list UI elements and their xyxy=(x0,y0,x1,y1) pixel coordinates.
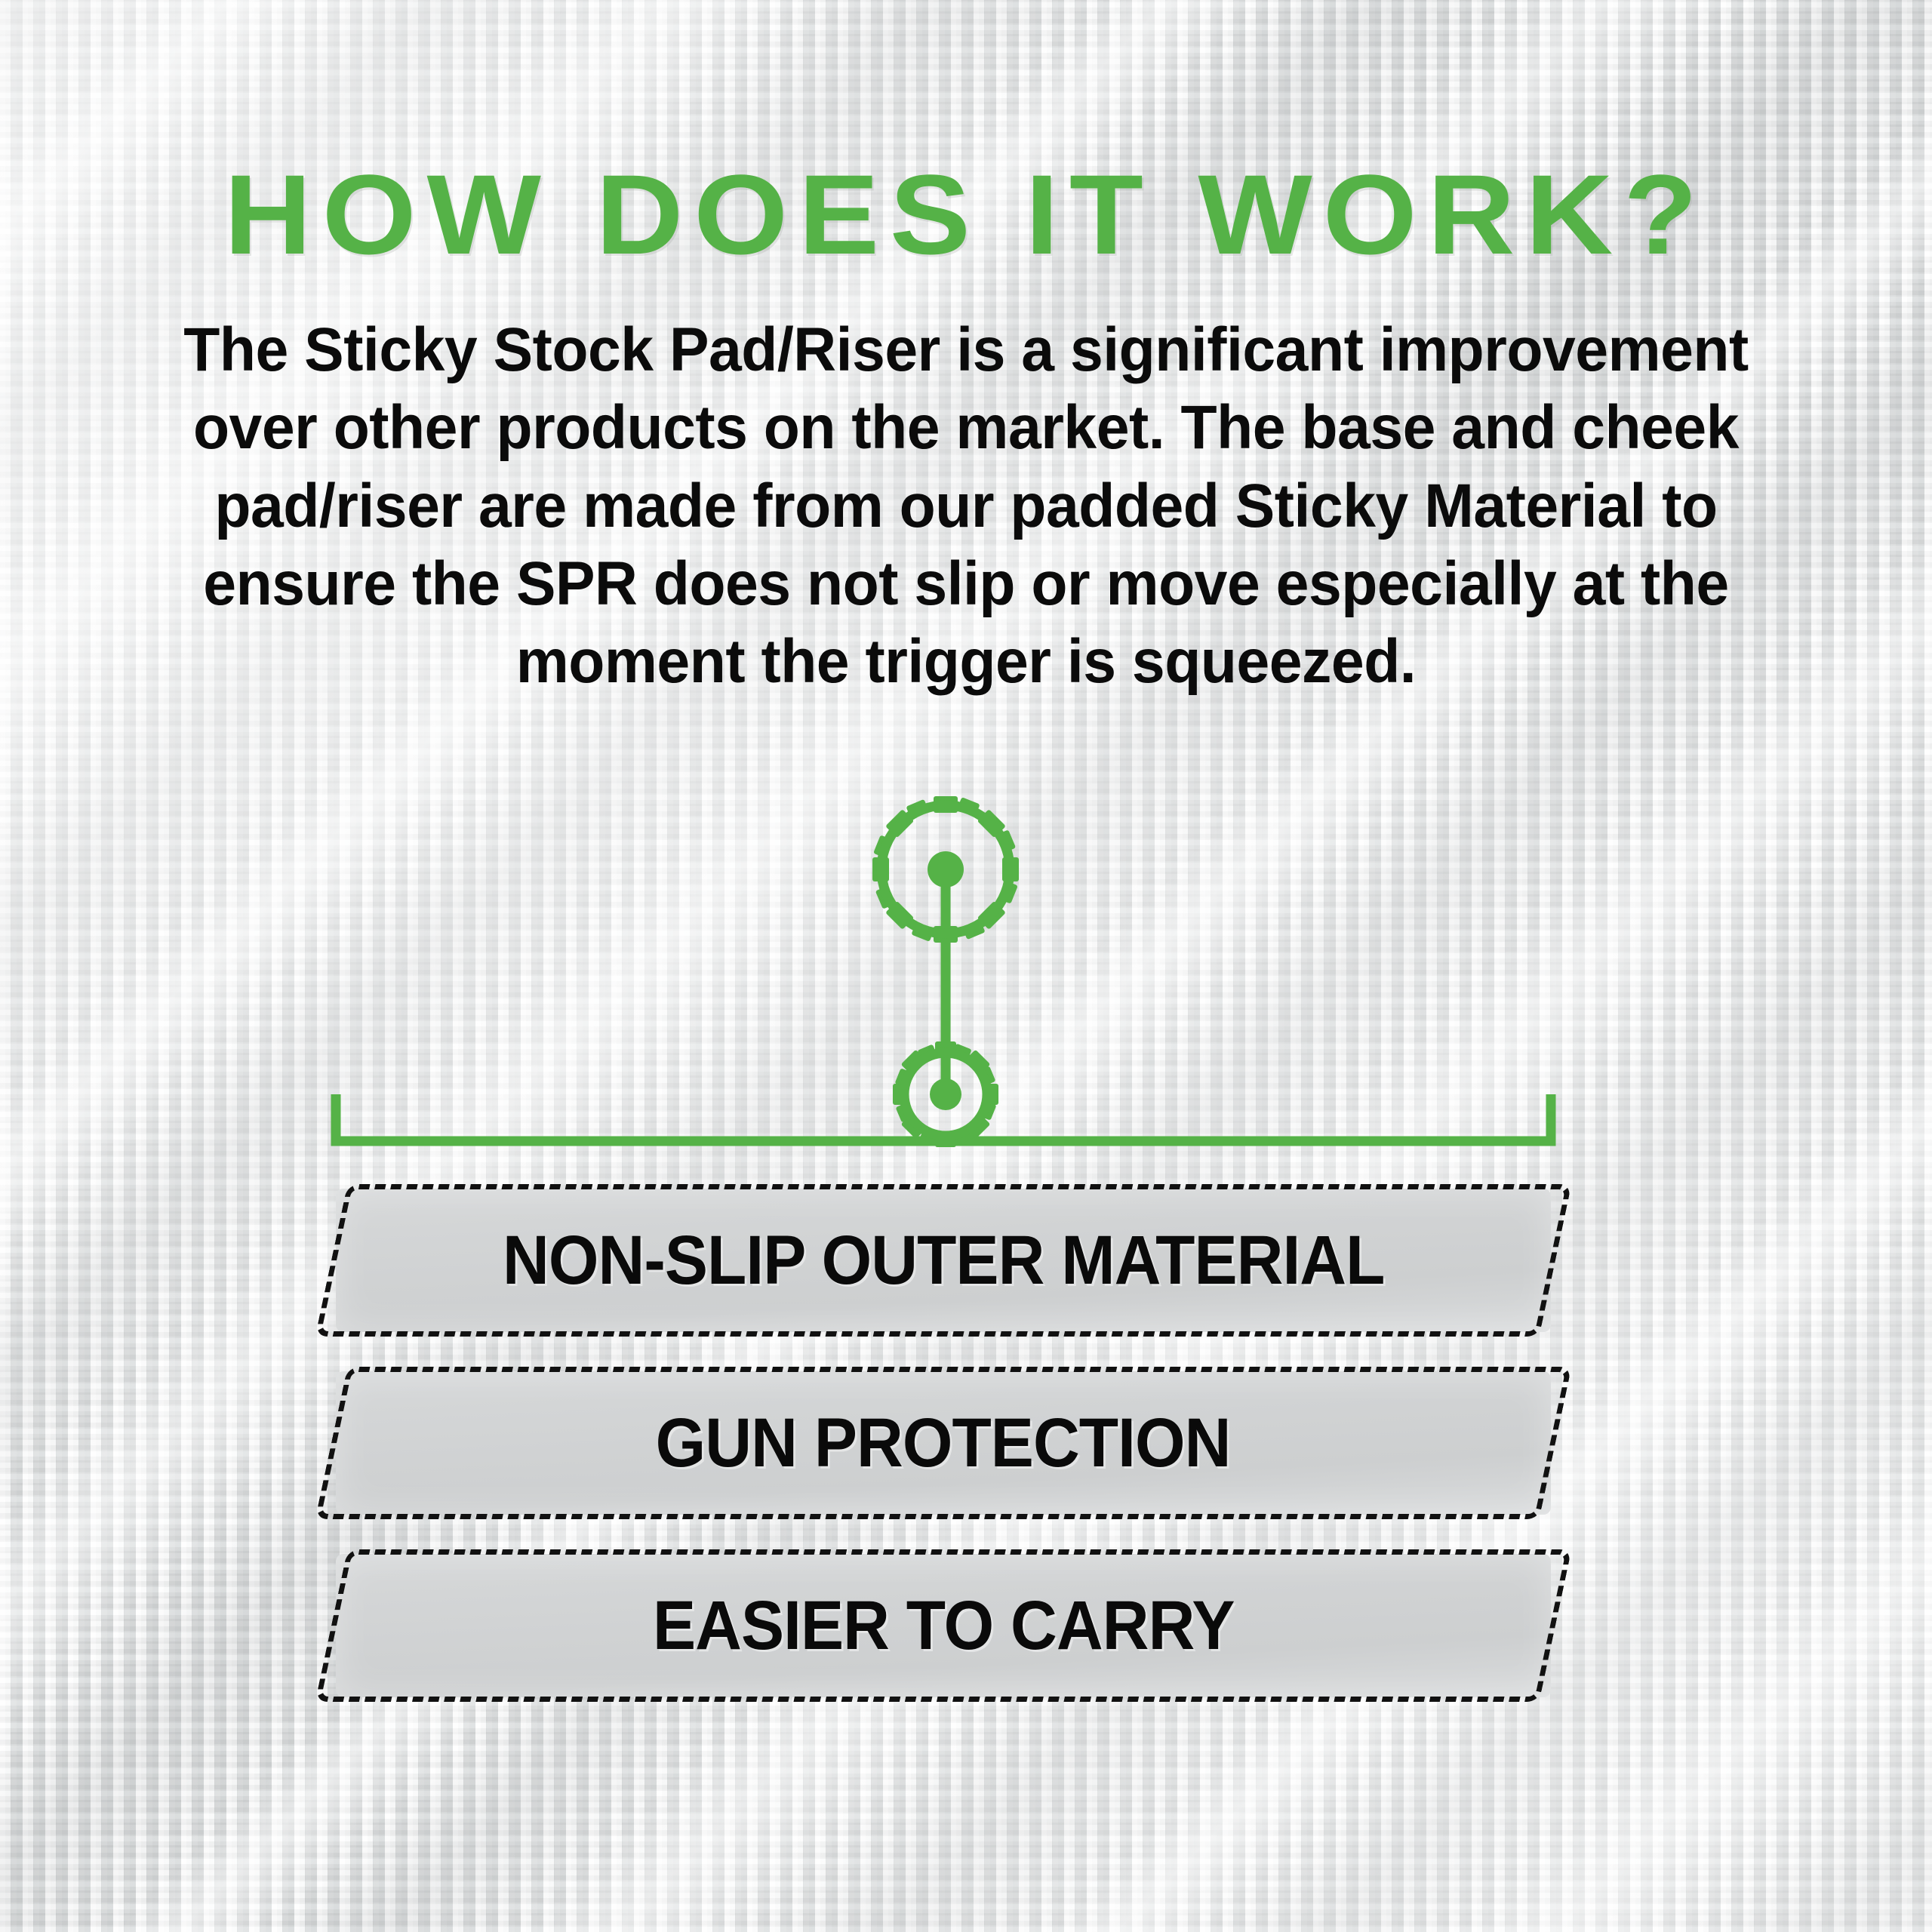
reticle-large-icon xyxy=(872,796,1019,943)
reticle-small-center-dot xyxy=(930,1078,961,1110)
feature-box-non-slip-outer-material[interactable]: NON-SLIP OUTER MATERIAL xyxy=(336,1189,1551,1332)
intro-paragraph: The Sticky Stock Pad/Riser is a signific… xyxy=(133,311,1799,701)
feature-label: NON-SLIP OUTER MATERIAL xyxy=(503,1226,1385,1295)
reticle-large-center-dot xyxy=(928,851,964,888)
feature-label: EASIER TO CARRY xyxy=(653,1591,1234,1660)
infographic-canvas: HOW DOES IT WORK? The Sticky Stock Pad/R… xyxy=(0,0,1932,1932)
feature-box-gun-protection[interactable]: GUN PROTECTION xyxy=(336,1371,1551,1515)
reticle-connector-diagram xyxy=(0,762,1932,1185)
feature-box-easier-to-carry[interactable]: EASIER TO CARRY xyxy=(336,1554,1551,1697)
feature-label: GUN PROTECTION xyxy=(656,1408,1231,1478)
feature-list: NON-SLIP OUTER MATERIAL GUN PROTECTION E… xyxy=(336,1189,1551,1737)
page-title: HOW DOES IT WORK? xyxy=(0,158,1932,271)
reticle-small-icon xyxy=(893,1041,998,1147)
horizontal-connector-line xyxy=(336,1094,1551,1141)
